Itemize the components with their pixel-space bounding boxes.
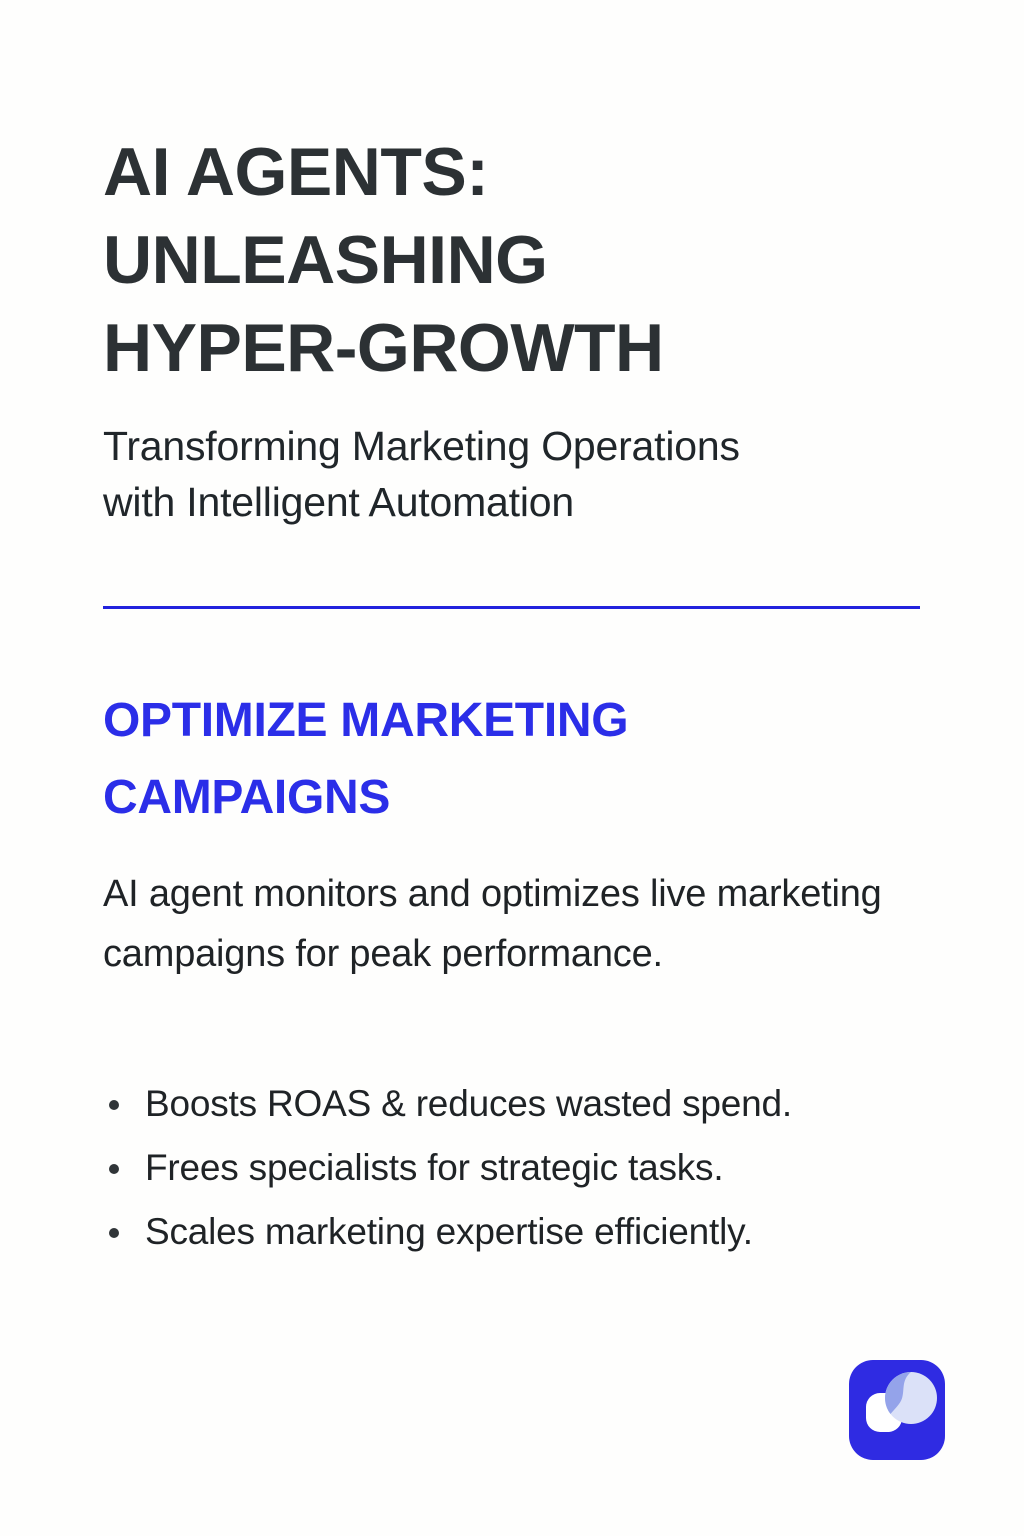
section-divider: [103, 606, 920, 609]
brand-logo-icon: [849, 1360, 945, 1460]
list-item: Frees specialists for strategic tasks.: [103, 1136, 983, 1200]
content-section: OPTIMIZE MARKETING CAMPAIGNS AI agent mo…: [103, 682, 963, 984]
list-item: Scales marketing expertise efficiently.: [103, 1200, 983, 1264]
bullet-dot-icon: [109, 1228, 119, 1238]
list-item-label: Scales marketing expertise efficiently.: [145, 1211, 753, 1252]
page-title: AI AGENTS: UNLEASHING HYPER-GROWTH: [103, 128, 923, 392]
benefit-list: Boosts ROAS & reduces wasted spend. Free…: [103, 1072, 983, 1264]
page-subtitle: Transforming Marketing Operations with I…: [103, 418, 923, 530]
section-heading: OPTIMIZE MARKETING CAMPAIGNS: [103, 682, 963, 836]
slide-canvas: AI AGENTS: UNLEASHING HYPER-GROWTH Trans…: [0, 0, 1024, 1536]
list-item-label: Frees specialists for strategic tasks.: [145, 1147, 723, 1188]
bullet-dot-icon: [109, 1164, 119, 1174]
hero-block: AI AGENTS: UNLEASHING HYPER-GROWTH Trans…: [103, 128, 923, 530]
list-item-label: Boosts ROAS & reduces wasted spend.: [145, 1083, 792, 1124]
list-item: Boosts ROAS & reduces wasted spend.: [103, 1072, 983, 1136]
section-body-text: AI agent monitors and optimizes live mar…: [103, 864, 893, 984]
bullet-dot-icon: [109, 1100, 119, 1110]
